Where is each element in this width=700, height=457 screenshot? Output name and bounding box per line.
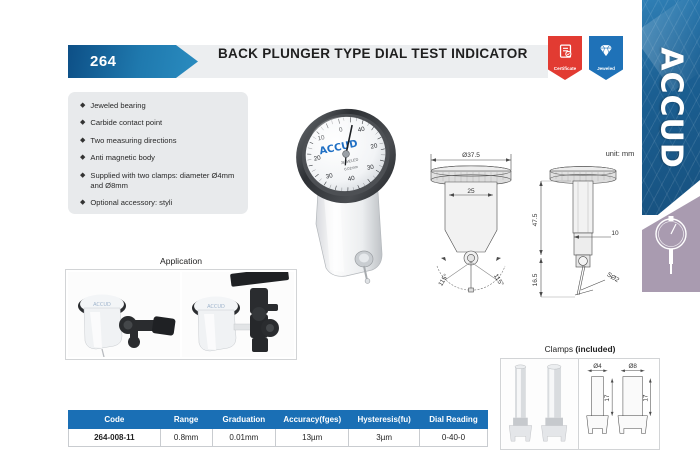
clamp-1-diameter: Ø4 (593, 363, 602, 370)
bullet-icon: ◆ (80, 136, 85, 146)
feature-item: ◆ Anti magnetic body (80, 153, 238, 163)
certificate-document-icon (557, 43, 574, 60)
clamps-title: Clamps (included) (500, 344, 660, 354)
dial-indicator-icon (654, 214, 688, 276)
bullet-icon: ◆ (80, 118, 85, 128)
cell-accuracy: 13µm (276, 429, 349, 447)
feature-text: Jeweled bearing (90, 101, 238, 111)
badge-certificate-label: Certificate (548, 66, 582, 71)
feature-item: ◆ Optional accessory: styli (80, 198, 238, 208)
feature-text: Optional accessory: styli (90, 198, 238, 208)
clamps-drawings: Ø4 17 Ø8 17 (579, 359, 659, 449)
svg-text:ACCUD: ACCUD (207, 304, 225, 310)
specification-table: Code Range Graduation Accuracy(fges) Hys… (68, 410, 488, 447)
th-graduation: Graduation (212, 411, 276, 429)
bullet-icon: ◆ (80, 153, 85, 163)
diamond-icon (597, 43, 615, 59)
cell-dial-reading: 0-40-0 (419, 429, 487, 447)
application-photos: ACCUD ACCUD (65, 269, 297, 360)
dim-total-height: 47.5 (532, 213, 539, 226)
cell-graduation: 0.01mm (212, 429, 276, 447)
clamp-2-diameter: Ø8 (628, 363, 637, 370)
clamps-title-bold: (included) (575, 344, 615, 354)
table-row: 264-008-11 0.8mm 0.01mm 13µm 3µm 0-40-0 (69, 429, 488, 447)
dim-angle-right: 115° (492, 272, 506, 288)
feature-text: Anti magnetic body (90, 153, 238, 163)
unit-label: unit: mm (606, 149, 635, 158)
dimension-drawings: Ø37.5 25 115° 115° 47.5 16.5 10 SØ2 unit… (415, 140, 645, 325)
application-photo-1: ACCUD (68, 272, 180, 357)
feature-text: Carbide contact point (90, 118, 238, 128)
table-header-row: Code Range Graduation Accuracy(fges) Hys… (69, 411, 488, 429)
dim-ball-diameter: SØ2 (605, 271, 620, 284)
cell-hysteresis: 3µm (349, 429, 420, 447)
clamps-photo (501, 359, 579, 449)
feature-item: ◆ Carbide contact point (80, 118, 238, 128)
bullet-icon: ◆ (80, 101, 85, 111)
bullet-icon: ◆ (80, 171, 85, 191)
th-dial-reading: Dial Reading (419, 411, 487, 429)
th-accuracy: Accuracy(fges) (276, 411, 349, 429)
features-panel: ◆ Jeweled bearing ◆ Carbide contact poin… (68, 92, 248, 214)
feature-text: Supplied with two clamps: diameter Ø4mm … (90, 171, 238, 191)
bullet-icon: ◆ (80, 198, 85, 208)
dim-angle-left: 115° (436, 272, 450, 288)
product-photo: 0 40 20 30 40 30 20 10 ACCUD JEWELED 0.0… (288, 104, 408, 286)
feature-text: Two measuring directions (90, 136, 238, 146)
application-title: Application (65, 256, 297, 266)
badge-jeweled: Jeweled (589, 36, 623, 80)
product-code-tab: 264 (68, 45, 198, 78)
feature-badges: Certificate Jeweled (548, 36, 623, 80)
dim-body-width: 25 (467, 188, 475, 195)
page-title: BACK PLUNGER TYPE DIAL TEST INDICATOR (218, 46, 548, 62)
rail-blue-banner: ACCUD (642, 0, 700, 215)
th-code: Code (69, 411, 161, 429)
clamps-title-plain: Clamps (545, 344, 576, 354)
product-code-label: 264 (90, 53, 117, 70)
clamps-body: Ø4 17 Ø8 17 (500, 358, 660, 450)
th-range: Range (160, 411, 212, 429)
feature-item: ◆ Two measuring directions (80, 136, 238, 146)
badge-jeweled-label: Jeweled (589, 66, 623, 71)
svg-text:ACCUD: ACCUD (93, 302, 111, 308)
application-photo-2: ACCUD (182, 272, 294, 357)
dim-lower-height: 16.5 (532, 273, 539, 286)
clamp-2-height: 17 (642, 394, 649, 402)
page-header: 264 BACK PLUNGER TYPE DIAL TEST INDICATO… (68, 45, 628, 81)
clamps-section: Clamps (included) (500, 344, 660, 450)
application-section: Application ACCUD ACCUD (65, 256, 297, 360)
accud-wordmark: ACCUD (654, 47, 689, 169)
dim-diameter-front: Ø37.5 (462, 152, 480, 159)
th-hysteresis: Hysteresis(fu) (349, 411, 420, 429)
cell-code: 264-008-11 (69, 429, 161, 447)
feature-item: ◆ Jeweled bearing (80, 101, 238, 111)
feature-item: ◆ Supplied with two clamps: diameter Ø4m… (80, 171, 238, 191)
badge-certificate: Certificate (548, 36, 582, 80)
dim-stem-width: 10 (611, 230, 619, 237)
cell-range: 0.8mm (160, 429, 212, 447)
clamp-1-height: 17 (604, 394, 611, 402)
